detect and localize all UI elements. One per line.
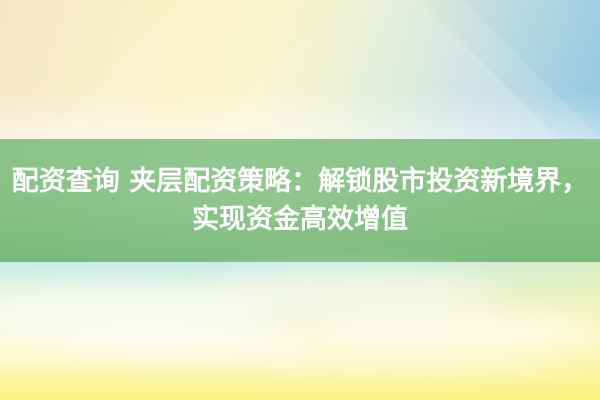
green-title-band: 配资查询 夹层配资策略：解锁股市投资新境界， 实现资金高效增值 [0, 139, 600, 262]
promo-banner: 配资查询 夹层配资策略：解锁股市投资新境界， 实现资金高效增值 [0, 0, 600, 400]
banner-headline: 配资查询 夹层配资策略：解锁股市投资新境界， 实现资金高效增值 [0, 163, 600, 239]
bottom-gradient-band [0, 262, 600, 400]
cloud-wisp-icon [320, 310, 600, 350]
top-gradient-band [0, 0, 600, 140]
headline-line-1: 配资查询 夹层配资策略：解锁股市投资新境界， [12, 166, 588, 197]
cloud-wisp-icon [60, 324, 310, 358]
cloud-wisp-icon [200, 270, 500, 314]
headline-line-2: 实现资金高效增值 [0, 201, 600, 239]
cloud-wisp-icon [250, 354, 570, 380]
top-haze-overlay [0, 90, 600, 140]
